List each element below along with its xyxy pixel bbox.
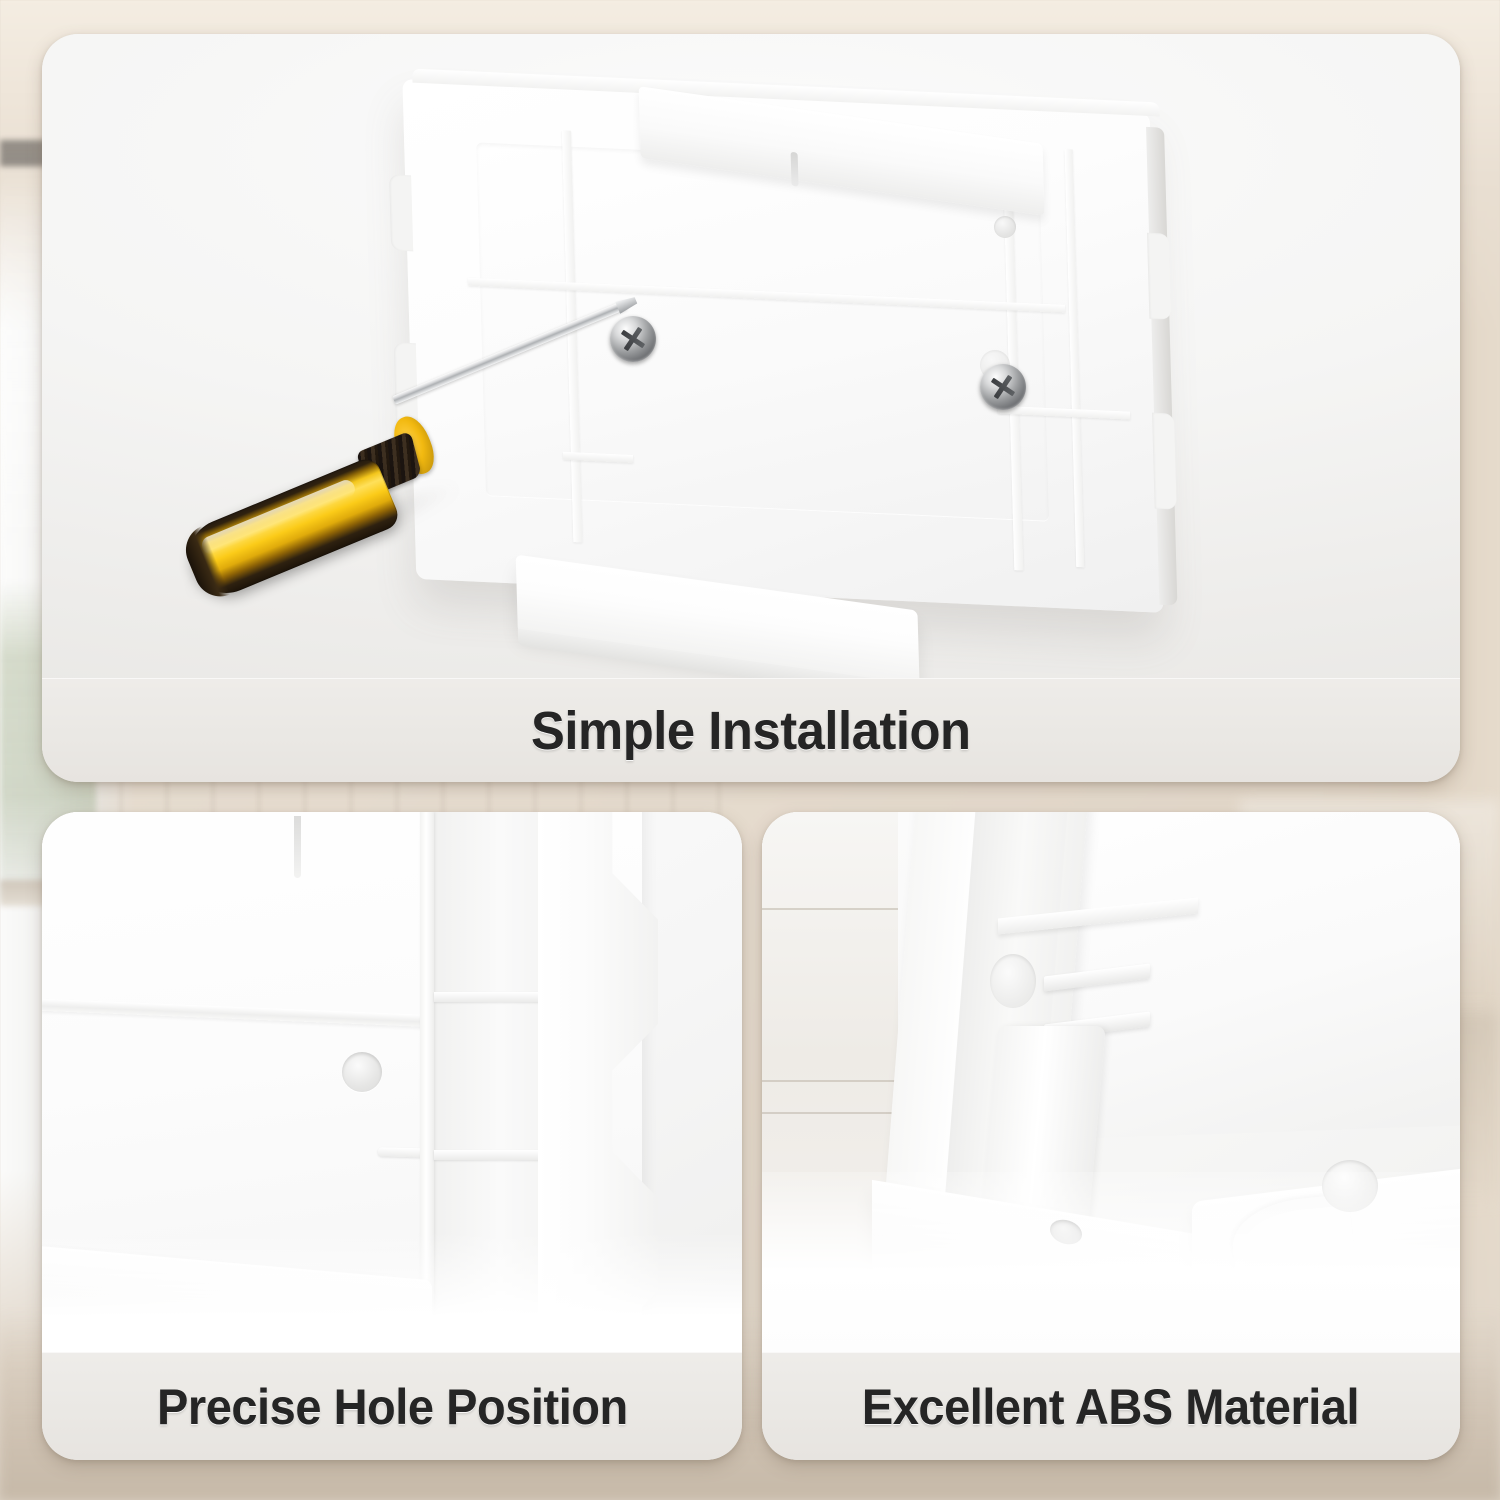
abs-moulded-dimple [990, 954, 1036, 1008]
caption-band-abs-material: Excellent ABS Material [762, 1352, 1460, 1460]
bracket-top-slot [294, 816, 301, 878]
hole-closeup-scene [42, 812, 742, 1352]
screw-hole [342, 1052, 382, 1092]
surface-reflection [762, 1172, 1460, 1352]
plate-notch-right-1 [1147, 233, 1171, 320]
background-seam-2 [762, 1080, 898, 1082]
screwdriver [162, 334, 632, 584]
panel-precise-hole-position: Precise Hole Position [42, 812, 742, 1460]
abs-closeup-scene [762, 812, 1460, 1352]
plate-shelf-front-face [518, 629, 920, 678]
caption-band-installation: Simple Installation [42, 678, 1460, 782]
product-photo-abs-material [762, 812, 1460, 1352]
plate-notch-left-1 [389, 174, 413, 251]
panel-simple-installation: Simple Installation [42, 34, 1460, 782]
mounting-plate-stage [42, 34, 1460, 678]
panel-excellent-abs-material: Excellent ABS Material [762, 812, 1460, 1460]
surface-glow [42, 1232, 742, 1352]
background-seam-3 [762, 1112, 898, 1114]
caption-simple-installation: Simple Installation [531, 700, 971, 762]
bracket-cross-brace-1 [434, 992, 554, 1002]
background-seam-1 [762, 908, 898, 910]
infographic-page: Simple Installation Precise Hole Positio… [0, 0, 1500, 1500]
phillips-screw-right [980, 364, 1026, 410]
plate-flap-slot [791, 152, 799, 187]
product-photo-installation [42, 34, 1460, 678]
caption-band-hole-position: Precise Hole Position [42, 1352, 742, 1460]
plate-notch-right-2 [1152, 413, 1177, 510]
plate-hole-mark-upper [994, 216, 1016, 238]
caption-excellent-abs-material: Excellent ABS Material [862, 1378, 1359, 1436]
product-photo-hole-position [42, 812, 742, 1352]
caption-precise-hole-position: Precise Hole Position [157, 1378, 628, 1436]
screwdriver-handle [178, 455, 402, 604]
bracket-cross-brace-2 [434, 1150, 554, 1160]
